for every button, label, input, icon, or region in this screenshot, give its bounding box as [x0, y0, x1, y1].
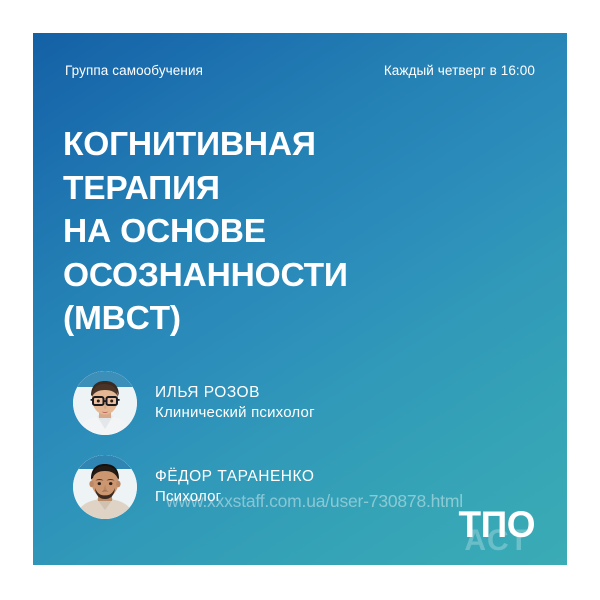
- header-group-label: Группа самообучения: [65, 63, 203, 78]
- brand-logo: ТПО ACT: [459, 506, 535, 543]
- avatar: [73, 455, 137, 519]
- header-schedule-label: Каждый четверг в 16:00: [384, 63, 535, 78]
- poster-card: Группа самообучения Каждый четверг в 16:…: [33, 33, 567, 565]
- speaker-role: Психолог: [155, 487, 314, 507]
- speaker-role: Клинический психолог: [155, 403, 315, 423]
- poster-header: Группа самообучения Каждый четверг в 16:…: [65, 63, 535, 78]
- title-line-4: осознанности: [63, 254, 493, 298]
- list-item: Фёдор Тараненко Психолог: [73, 445, 493, 529]
- speaker-info: Фёдор Тараненко Психолог: [155, 467, 314, 507]
- page-title: Когнитивная терапия на основе осознаннос…: [63, 123, 493, 341]
- avatar-photo-man-glasses-icon: [73, 371, 137, 435]
- speaker-name: Фёдор Тараненко: [155, 467, 314, 487]
- title-line-3: на основе: [63, 210, 493, 254]
- speaker-list: Илья Розов Клинический психолог: [73, 361, 493, 529]
- poster-root: Группа самообучения Каждый четверг в 16:…: [0, 0, 600, 600]
- speaker-name: Илья Розов: [155, 383, 315, 403]
- speaker-info: Илья Розов Клинический психолог: [155, 383, 315, 423]
- title-line-5: (MBCT): [63, 297, 493, 341]
- list-item: Илья Розов Клинический психолог: [73, 361, 493, 445]
- avatar-photo-man-beard-icon: [73, 455, 137, 519]
- title-line-2: терапия: [63, 167, 493, 211]
- brand-mark: ТПО: [459, 506, 535, 543]
- title-line-1: Когнитивная: [63, 123, 493, 167]
- avatar: [73, 371, 137, 435]
